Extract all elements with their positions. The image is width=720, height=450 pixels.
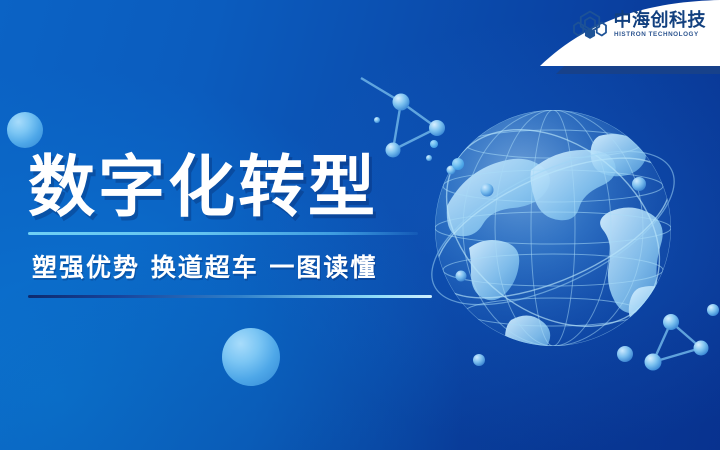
title-divider-bottom bbox=[28, 295, 432, 298]
page-title: 数字化转型 bbox=[28, 152, 448, 222]
decorative-sphere-tiny bbox=[452, 158, 464, 170]
brand-logo-text: 中海创科技 HISTRON TECHNOLOGY bbox=[614, 11, 707, 38]
decorative-sphere-mid bbox=[222, 328, 280, 386]
decorative-sphere-small bbox=[430, 140, 438, 148]
brand-name-en: HISTRON TECHNOLOGY bbox=[614, 32, 708, 38]
hero-text-block: 数字化转型 塑强优势 换道超车 一图读懂 bbox=[28, 152, 448, 298]
network-nodes-triangle-bottom bbox=[635, 300, 720, 395]
digital-transformation-poster: 数字化转型 塑强优势 换道超车 一图读懂 中海创科技 HISTRON TECHN… bbox=[0, 0, 720, 450]
decorative-sphere-left bbox=[7, 112, 43, 148]
page-subtitle: 塑强优势 换道超车 一图读懂 bbox=[28, 235, 448, 295]
brand-name-cn: 中海创科技 bbox=[614, 11, 707, 29]
brand-logo[interactable]: 中海创科技 HISTRON TECHNOLOGY bbox=[573, 9, 707, 41]
histron-logo-mark bbox=[573, 9, 607, 41]
